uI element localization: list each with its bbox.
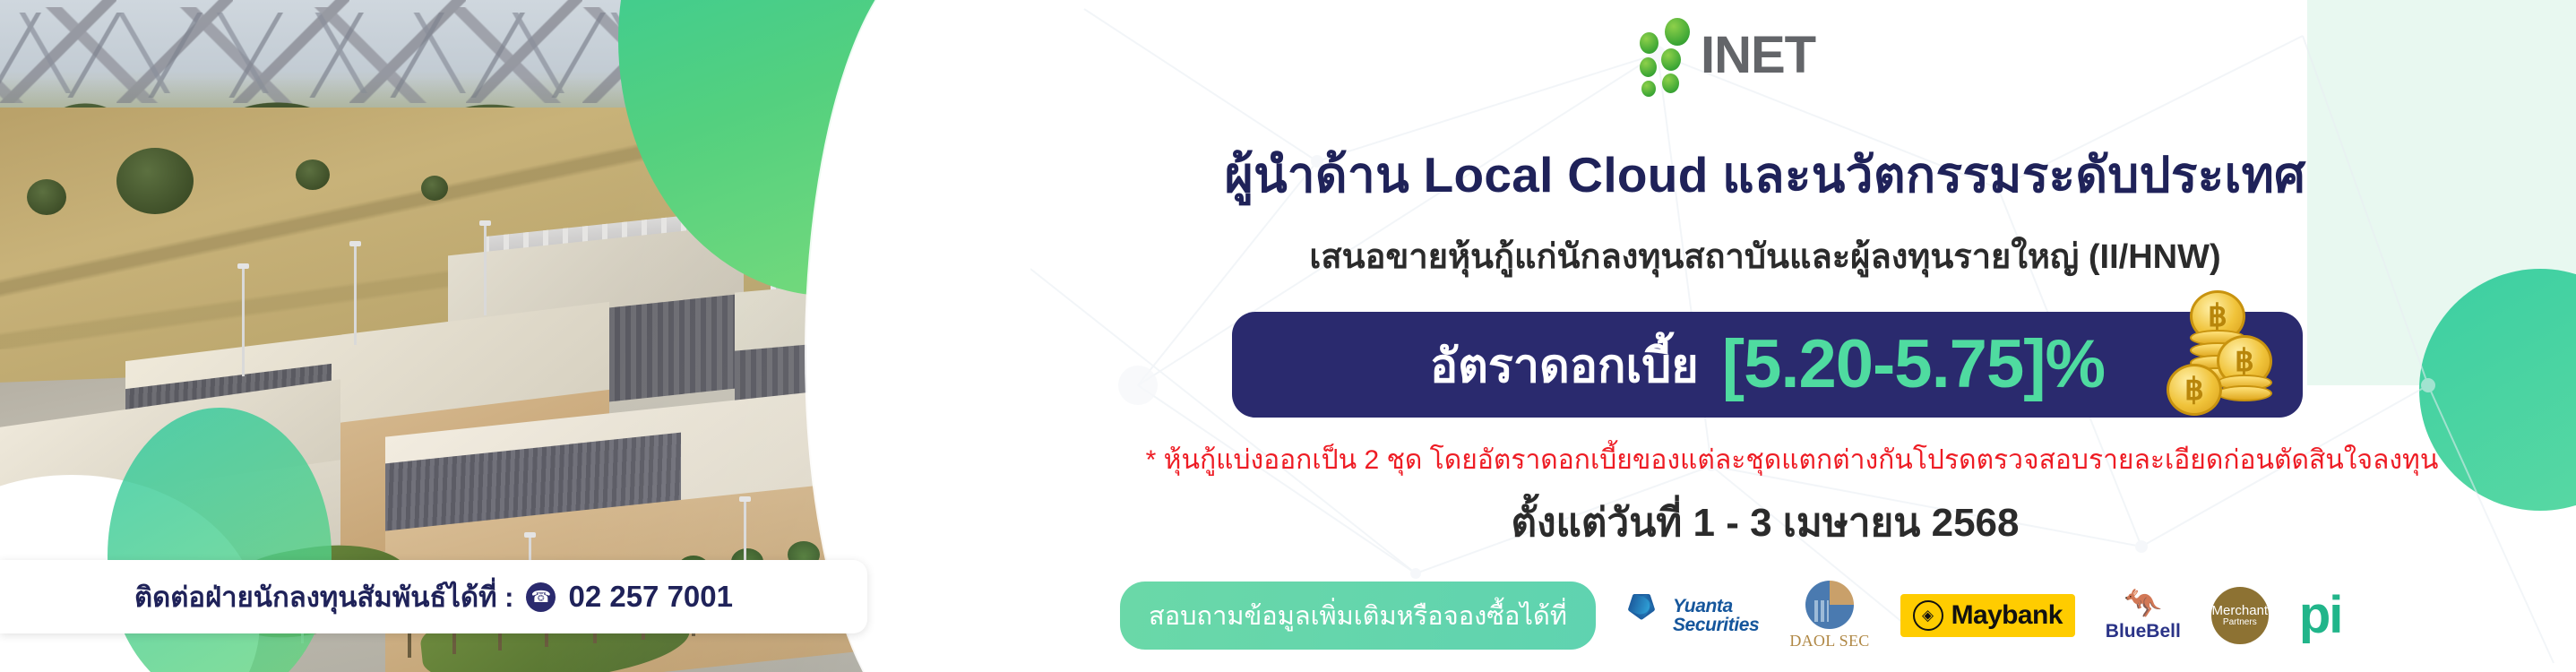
yuanta-star-icon <box>1619 593 1664 638</box>
interest-rate-box: อัตราดอกเบี้ย [5.20-5.75]% ฿ ฿ ฿ <box>1232 312 2303 418</box>
content-panel: INET ผู้นำด้าน Local Cloud และนวัตกรรมระ… <box>1066 0 2576 672</box>
yuanta-line2: Securities <box>1673 615 1759 635</box>
page-title: ผู้นำด้าน Local Cloud และนวัตกรรมระดับปร… <box>1066 136 2464 214</box>
broker-logo-yuanta[interactable]: Yuanta Securities <box>1619 593 1759 638</box>
daol-text-sub: SEC <box>1839 632 1870 650</box>
promotional-banner: INET ผู้นำด้าน Local Cloud และนวัตกรรมระ… <box>0 0 2576 672</box>
daol-text-main: DAOL <box>1789 632 1835 650</box>
maybank-tiger-icon: ◈ <box>1913 600 1943 631</box>
broker-logo-merchant-partners[interactable]: Merchant Partners <box>2211 587 2269 644</box>
contact-phone-number[interactable]: 02 257 7001 <box>568 580 733 614</box>
broker-logo-list: Yuanta Securities DAOL SEC ◈ Maybank 🦘 <box>1619 581 2341 650</box>
broker-logo-maybank[interactable]: ◈ Maybank <box>1900 594 2075 637</box>
bluebell-wordmark: BlueBell <box>2106 621 2181 642</box>
phone-icon: ☎ <box>526 582 556 612</box>
broker-logo-daol[interactable]: DAOL SEC <box>1789 581 1869 650</box>
daol-circle-icon <box>1805 581 1854 629</box>
cta-row: สอบถามข้อมูลเพิ่มเติมหรือจองซื้อได้ที่ Y… <box>1120 581 2572 650</box>
deer-icon: 🦘 <box>2124 589 2162 619</box>
maybank-wordmark: Maybank <box>1951 600 2063 631</box>
disclaimer-note: * หุ้นกู้แบ่งออกเป็น 2 ชุด โดยอัตราดอกเบ… <box>1066 439 2518 481</box>
contact-label: ติดต่อฝ่ายนักลงทุนสัมพันธ์ได้ที่ : <box>134 574 513 619</box>
merchant-line1: Merchant <box>2212 604 2269 618</box>
green-dots-icon <box>1640 16 1695 79</box>
broker-logo-bluebell[interactable]: 🦘 BlueBell <box>2106 589 2181 642</box>
rate-label: อัตราดอกเบี้ย <box>1430 328 1699 402</box>
contact-cta-button[interactable]: สอบถามข้อมูลเพิ่มเติมหรือจองซื้อได้ที่ <box>1120 582 1596 650</box>
yuanta-line1: Yuanta <box>1673 596 1733 616</box>
inet-logo: INET <box>1640 16 1815 79</box>
broker-logo-pi[interactable]: pi <box>2299 595 2342 636</box>
logo-wordmark: INET <box>1701 31 1815 79</box>
rate-value: [5.20-5.75]% <box>1722 331 2105 399</box>
offer-dates: ตั้งแต่วันที่ 1 - 3 เมษายน 2568 <box>1066 491 2464 554</box>
gold-coin-stack-icon: ฿ ฿ ฿ <box>2167 289 2283 423</box>
page-subtitle: เสนอขายหุ้นกู้แก่นักลงทุนสถาบันและผู้ลงท… <box>1066 228 2464 283</box>
merchant-line2: Partners <box>2223 618 2257 628</box>
investor-relations-contact-card: ติดต่อฝ่ายนักลงทุนสัมพันธ์ได้ที่ : ☎ 02 … <box>0 560 867 633</box>
